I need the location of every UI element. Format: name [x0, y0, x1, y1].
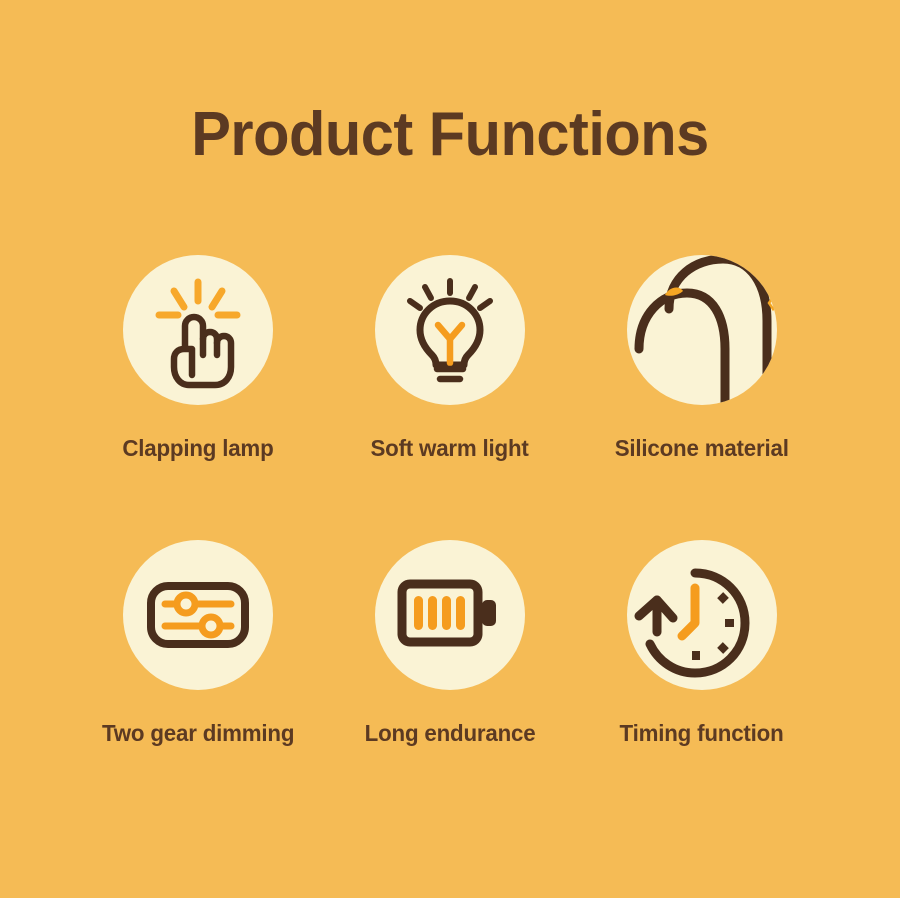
feature-item-two-gear-dimming[interactable]: Two gear dimming — [72, 540, 324, 747]
product-functions-page: Product Functions — [0, 0, 900, 898]
feature-item-clapping-lamp[interactable]: Clapping lamp — [72, 255, 324, 462]
feature-item-long-endurance[interactable]: Long endurance — [324, 540, 576, 747]
icon-circle — [375, 255, 525, 405]
feature-label: Clapping lamp — [122, 435, 273, 462]
clock-timer-icon — [627, 540, 777, 690]
icon-circle — [123, 540, 273, 690]
tap-hand-icon — [123, 255, 273, 405]
icon-circle — [627, 255, 777, 405]
feature-row: Two gear dimming — [0, 540, 900, 747]
page-title: Product Functions — [18, 104, 882, 166]
feature-grid: Clapping lamp — [0, 255, 900, 747]
feature-label: Timing function — [620, 720, 784, 747]
icon-circle — [375, 540, 525, 690]
feature-label: Soft warm light — [371, 435, 529, 462]
light-bulb-icon — [375, 255, 525, 405]
feature-label: Long endurance — [365, 720, 536, 747]
icon-circle — [627, 540, 777, 690]
feature-row: Clapping lamp — [0, 255, 900, 462]
feature-label: Two gear dimming — [102, 720, 294, 747]
feature-item-timing-function[interactable]: Timing function — [576, 540, 828, 747]
sliders-icon — [123, 540, 273, 690]
feature-label: Silicone material — [615, 435, 789, 462]
battery-icon — [375, 540, 525, 690]
silicone-drape-icon — [627, 255, 777, 405]
feature-item-silicone-material[interactable]: Silicone material — [576, 255, 828, 462]
icon-circle — [123, 255, 273, 405]
feature-item-soft-warm-light[interactable]: Soft warm light — [324, 255, 576, 462]
